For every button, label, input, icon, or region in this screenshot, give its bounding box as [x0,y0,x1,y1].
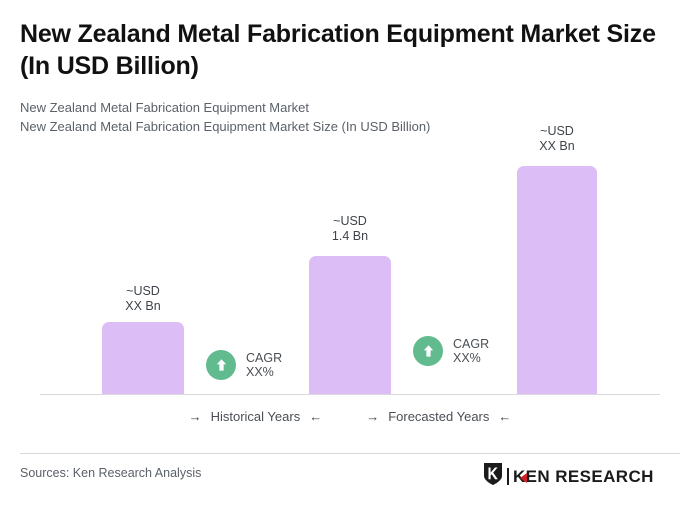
arrow-up-icon [413,336,443,366]
brand-name: KEN RESEARCH [513,467,654,487]
footer-divider [20,453,680,454]
period-historical-years: → Historical Years ← [189,409,323,424]
cagr-annotation-1-value: XX% [246,365,282,380]
bar-label-1: ~USD XX Bn [102,284,184,313]
period-legend: → Historical Years ← → Forecasted Years … [0,409,700,424]
bar-label-1-value: XX Bn [102,299,184,314]
cagr-annotation-2-text: CAGR XX% [453,337,489,366]
shield-k-icon [483,462,503,491]
bar-label-2-currency: ~USD [333,214,367,228]
bar-label-2: ~USD 1.4 Bn [309,214,391,243]
cagr-annotation-1-text: CAGR XX% [246,351,282,380]
chart-baseline-axis [40,394,660,395]
bar-label-1-currency: ~USD [126,284,160,298]
cagr-annotation-2: CAGR XX% [413,336,489,366]
bar-3[interactable] [517,166,597,394]
arrow-right-icon: → [366,410,379,423]
bar-label-3: ~USD XX Bn [517,124,597,153]
arrow-left-icon: ← [498,410,511,423]
period-forecasted-years: → Forecasted Years ← [366,409,511,424]
cagr-annotation-2-value: XX% [453,351,489,366]
red-wedge-icon [520,473,527,483]
bar-label-2-value: 1.4 Bn [309,229,391,244]
arrow-right-icon: → [189,410,202,423]
bar-label-3-currency: ~USD [540,124,574,138]
cagr-annotation-1: CAGR XX% [206,350,282,380]
cagr-annotation-1-label: CAGR [246,351,282,365]
bar-1[interactable] [102,322,184,394]
period-forecasted-years-label: Forecasted Years [388,409,489,424]
arrow-up-icon [206,350,236,380]
period-historical-years-label: Historical Years [211,409,301,424]
arrow-left-icon: ← [309,410,322,423]
ken-research-logo: KEN RESEARCH [483,462,654,491]
bar-2[interactable] [309,256,391,394]
logo-divider [507,468,509,485]
cagr-annotation-2-label: CAGR [453,337,489,351]
bar-chart: ~USD XX Bn ~USD 1.4 Bn ~USD XX Bn CAGR X… [0,0,700,400]
bar-label-3-value: XX Bn [517,139,597,154]
brand-name-text: KEN RESEARCH [513,467,654,486]
sources-text: Sources: Ken Research Analysis [20,466,201,480]
